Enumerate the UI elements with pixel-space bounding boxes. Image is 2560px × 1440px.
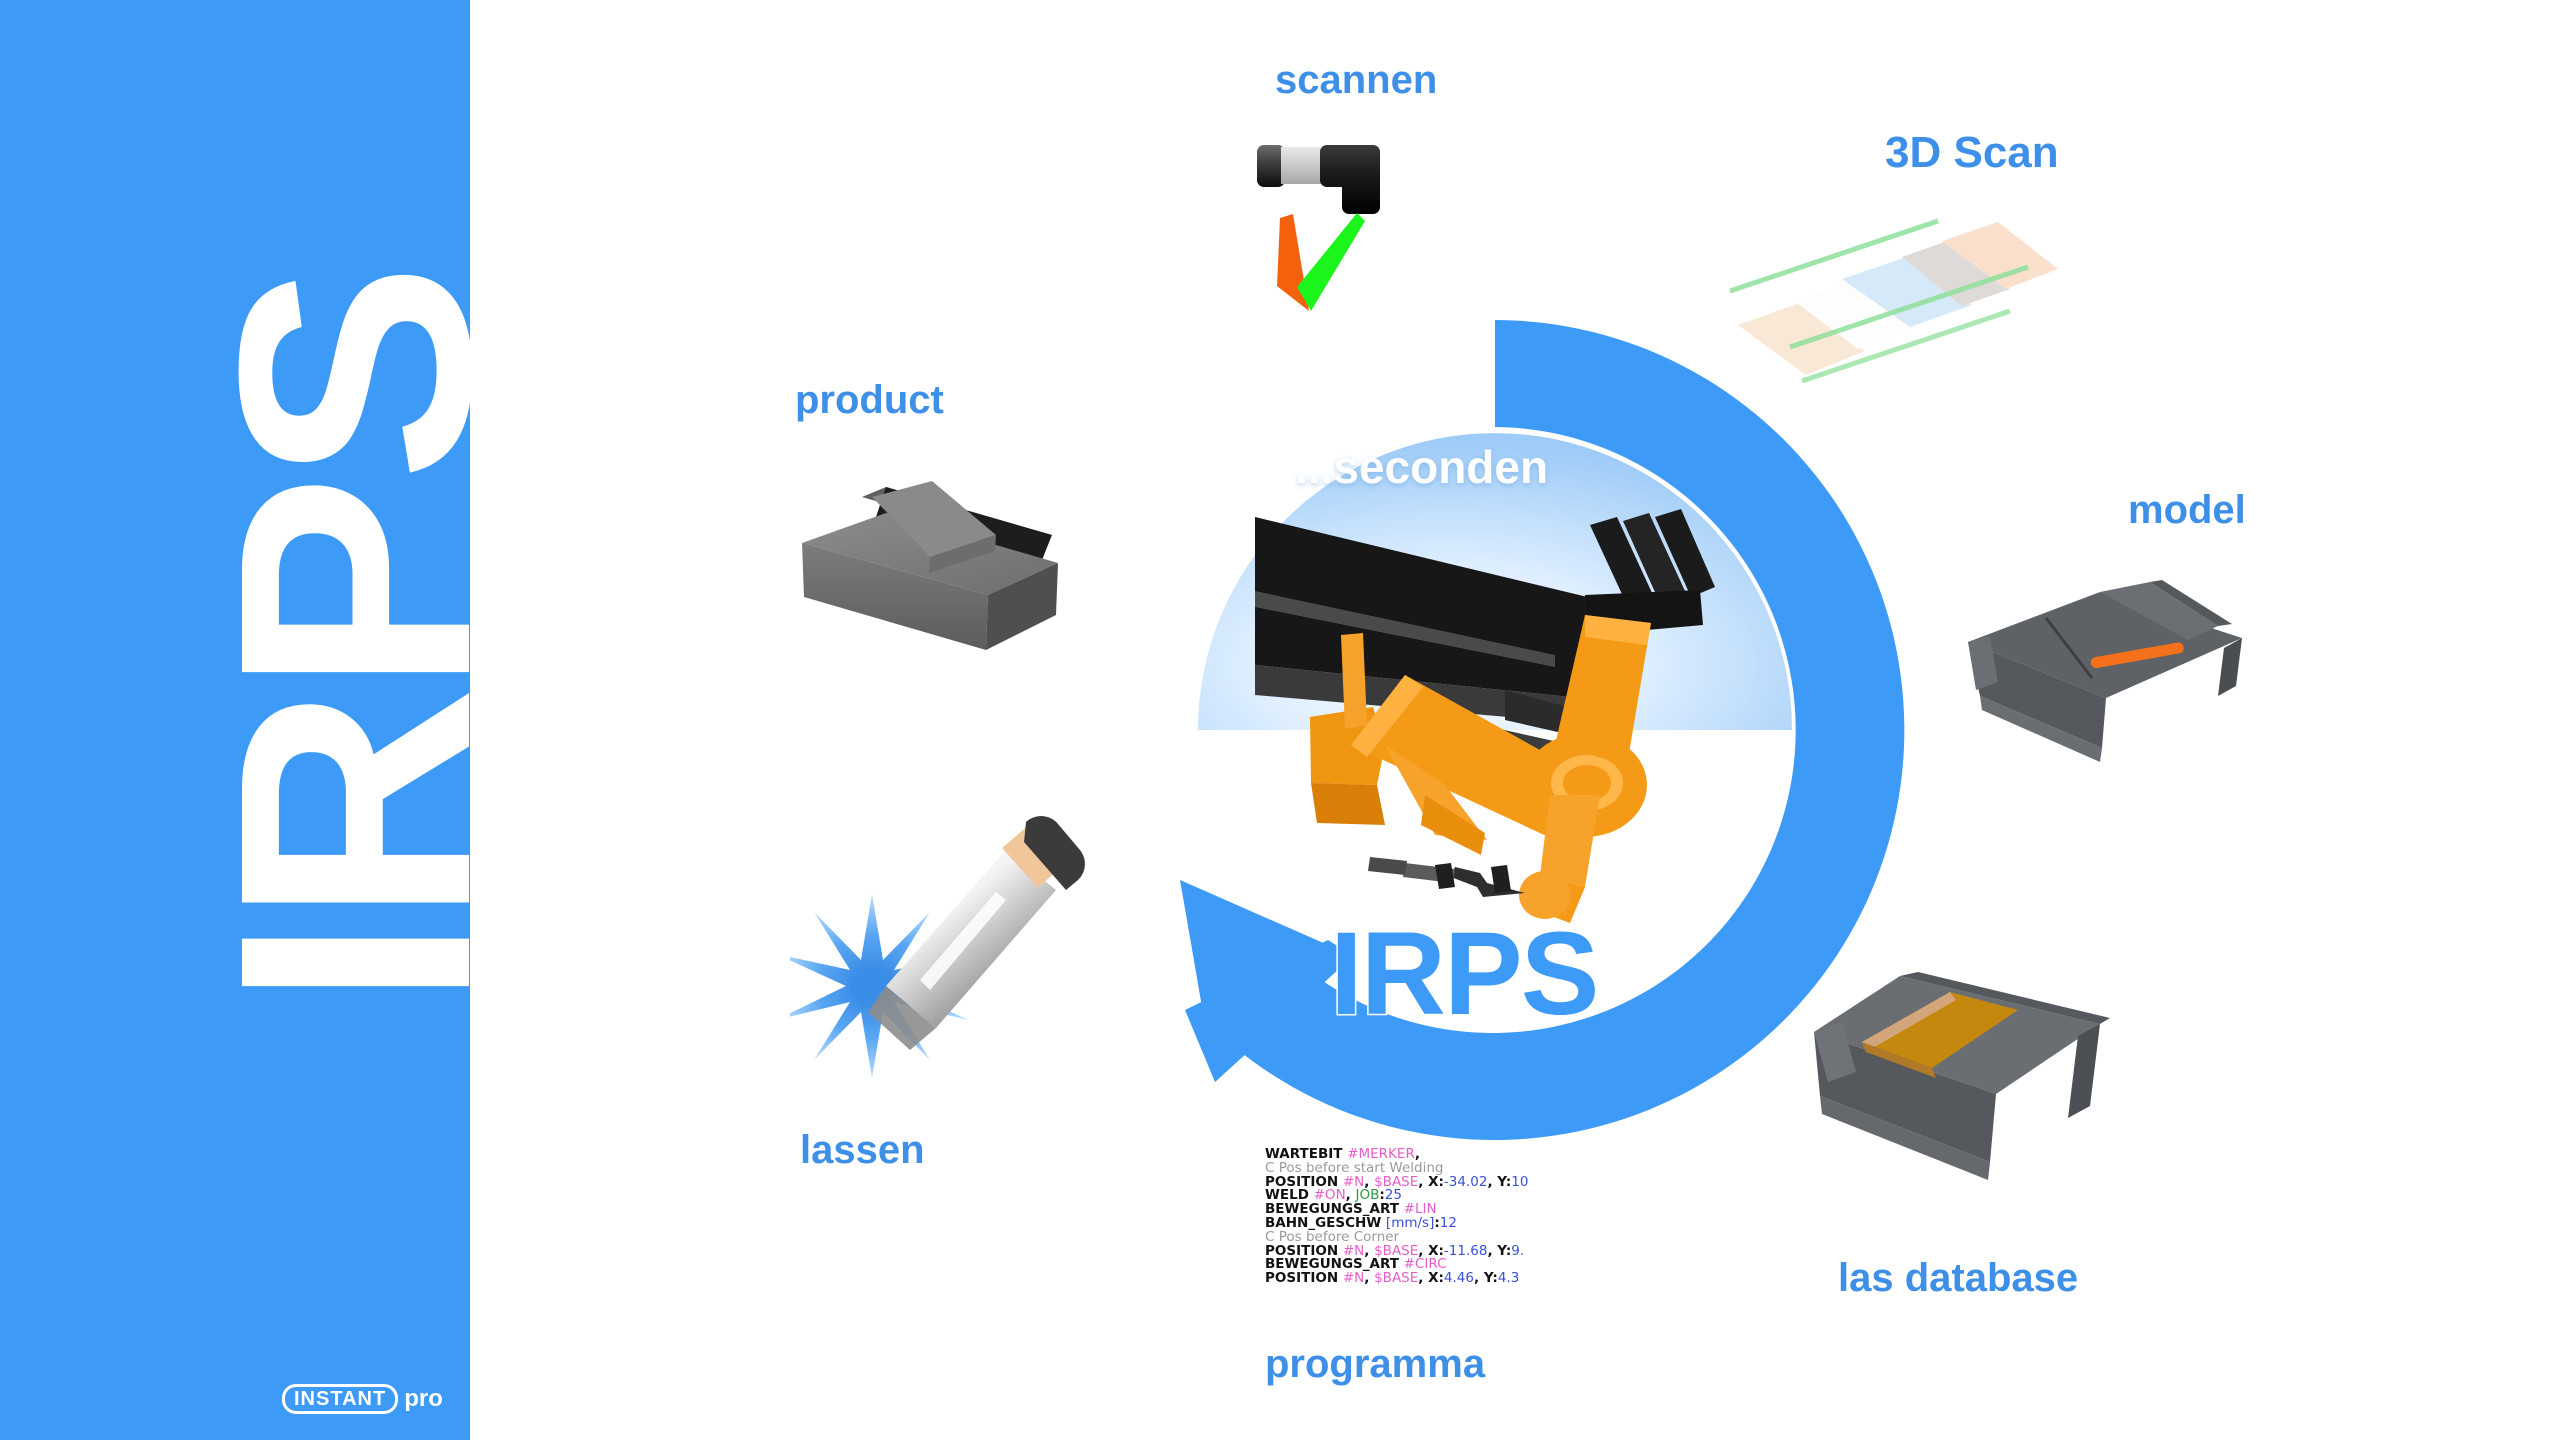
logo-instant-mark: INSTANT	[282, 1384, 398, 1414]
code-token: $BASE	[1374, 1270, 1418, 1286]
sidebar-vertical-title: IRPS	[190, 270, 520, 1370]
sidebar: IRPS INSTANT pro	[0, 0, 470, 1440]
cycle-caption-seconds: ...seconden	[1295, 440, 1548, 494]
code-token: POSITION	[1265, 1270, 1343, 1286]
welding-torch-illustration	[790, 800, 1120, 1100]
cycle-title-irps: IRPS	[1330, 915, 1597, 1033]
product-part-illustration	[790, 425, 1130, 665]
code-token: 12	[1440, 1215, 1457, 1231]
code-token: #N	[1343, 1270, 1364, 1286]
label-lassen: lassen	[800, 1128, 925, 1173]
model-cad-illustration	[1950, 530, 2290, 770]
code-token: -11.68	[1444, 1243, 1488, 1259]
code-line: POSITION #N, $BASE, X:4.46, Y:4.3	[1265, 1272, 1528, 1286]
logo-pro-suffix: pro	[404, 1387, 443, 1411]
code-token: -34.02	[1444, 1174, 1488, 1190]
label-scannen: scannen	[1275, 58, 1437, 103]
label-3d-scan: 3D Scan	[1885, 128, 2059, 178]
label-model: model	[2128, 488, 2246, 533]
scanner-head	[1320, 145, 1380, 214]
robot-program-code: WARTEBIT #MERKER,C Pos before start Weld…	[1265, 1148, 1528, 1286]
las-database-illustration	[1800, 940, 2160, 1190]
code-token: , Y:	[1487, 1243, 1511, 1259]
code-token: 4.3	[1498, 1270, 1519, 1286]
label-programma: programma	[1265, 1342, 1485, 1387]
code-token: 4.46	[1444, 1270, 1474, 1286]
code-token: 9.	[1511, 1243, 1524, 1259]
code-token: ,	[1364, 1270, 1374, 1286]
code-token: , X:	[1418, 1174, 1444, 1190]
code-token: 10	[1511, 1174, 1528, 1190]
robot-cable-pack	[1585, 509, 1715, 635]
code-token: , X:	[1418, 1270, 1444, 1286]
slide-canvas: IRPS INSTANT pro	[0, 0, 2560, 1440]
robot-welding-tool	[1368, 857, 1525, 897]
label-las-database: las database	[1838, 1256, 2078, 1301]
brand-logo: INSTANT pro	[282, 1384, 443, 1414]
robot-arm-illustration	[1255, 495, 1715, 935]
scanner-left-grip	[1257, 145, 1285, 187]
code-token: , Y:	[1474, 1270, 1498, 1286]
scan3d-illustration	[1710, 175, 2150, 405]
scanner-beam-green	[1297, 213, 1365, 311]
label-product: product	[795, 378, 944, 423]
code-token: , Y:	[1487, 1174, 1511, 1190]
scanner-illustration	[1255, 115, 1495, 315]
